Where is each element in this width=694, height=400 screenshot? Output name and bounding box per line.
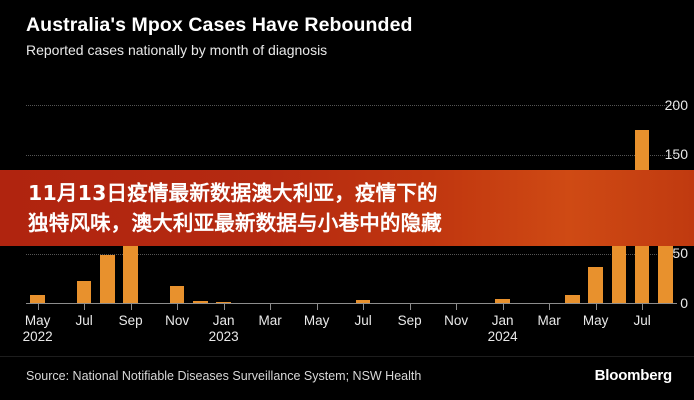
x-axis: May2022JulSepNovJan2023MarMayJulSepNovJa… — [26, 303, 677, 359]
chart-screenshot: Australia's Mpox Cases Have Rebounded Re… — [0, 0, 694, 400]
bar-aug-2022 — [100, 255, 114, 303]
x-tick-label: Sep — [119, 313, 143, 328]
x-tick-label: Jul — [75, 313, 92, 328]
x-tick — [410, 303, 411, 310]
x-tick — [456, 303, 457, 310]
overlay-line-1: 11月13日疫情最新数据澳大利亚，疫情下的 — [28, 178, 694, 208]
y-tick-50: 50 — [645, 246, 688, 260]
x-tick — [549, 303, 550, 310]
x-tick-year: 2022 — [23, 329, 53, 344]
overlay-banner: 11月13日疫情最新数据澳大利亚，疫情下的 独特风味，澳大利亚最新数据与小巷中的… — [0, 170, 694, 246]
bar-jul-2022 — [77, 281, 91, 303]
footer-divider — [0, 356, 694, 357]
x-tick — [38, 303, 39, 310]
x-tick-label: Mar — [538, 313, 561, 328]
overlay-line-2: 独特风味，澳大利亚最新数据与小巷中的隐藏 — [28, 208, 694, 238]
x-tick — [596, 303, 597, 310]
y-tick-200: 200 — [645, 98, 688, 112]
x-tick — [270, 303, 271, 310]
x-tick — [642, 303, 643, 310]
x-tick-year: 2023 — [209, 329, 239, 344]
x-tick-label: Nov — [444, 313, 468, 328]
x-tick-label: Jul — [633, 313, 650, 328]
x-tick — [131, 303, 132, 310]
x-tick-label: May2022 — [23, 313, 53, 344]
x-tick — [363, 303, 364, 310]
bloomberg-logo: Bloomberg — [595, 367, 672, 384]
x-tick — [317, 303, 318, 310]
x-tick-year: 2024 — [488, 329, 518, 344]
x-tick-label: Jan2024 — [488, 313, 518, 344]
page-title: Australia's Mpox Cases Have Rebounded — [26, 14, 666, 36]
x-tick-label: Sep — [398, 313, 422, 328]
bar-may-2024 — [588, 267, 602, 303]
y-tick-150: 150 — [645, 147, 688, 161]
x-tick-label: Nov — [165, 313, 189, 328]
bar-apr-2024 — [565, 295, 579, 303]
x-tick — [84, 303, 85, 310]
x-tick — [224, 303, 225, 310]
chart-subtitle: Reported cases nationally by month of di… — [26, 42, 666, 58]
x-tick-label: May — [583, 313, 609, 328]
bar-may-2022 — [30, 295, 44, 303]
x-tick — [503, 303, 504, 310]
x-tick-label: Mar — [259, 313, 282, 328]
bar-nov-2022 — [170, 286, 184, 303]
source-note: Source: National Notifiable Diseases Sur… — [26, 369, 421, 383]
chart-header: Australia's Mpox Cases Have Rebounded Re… — [26, 14, 666, 59]
x-tick-label: Jul — [354, 313, 371, 328]
x-tick — [177, 303, 178, 310]
x-tick-label: May — [304, 313, 330, 328]
x-tick-label: Jan2023 — [209, 313, 239, 344]
